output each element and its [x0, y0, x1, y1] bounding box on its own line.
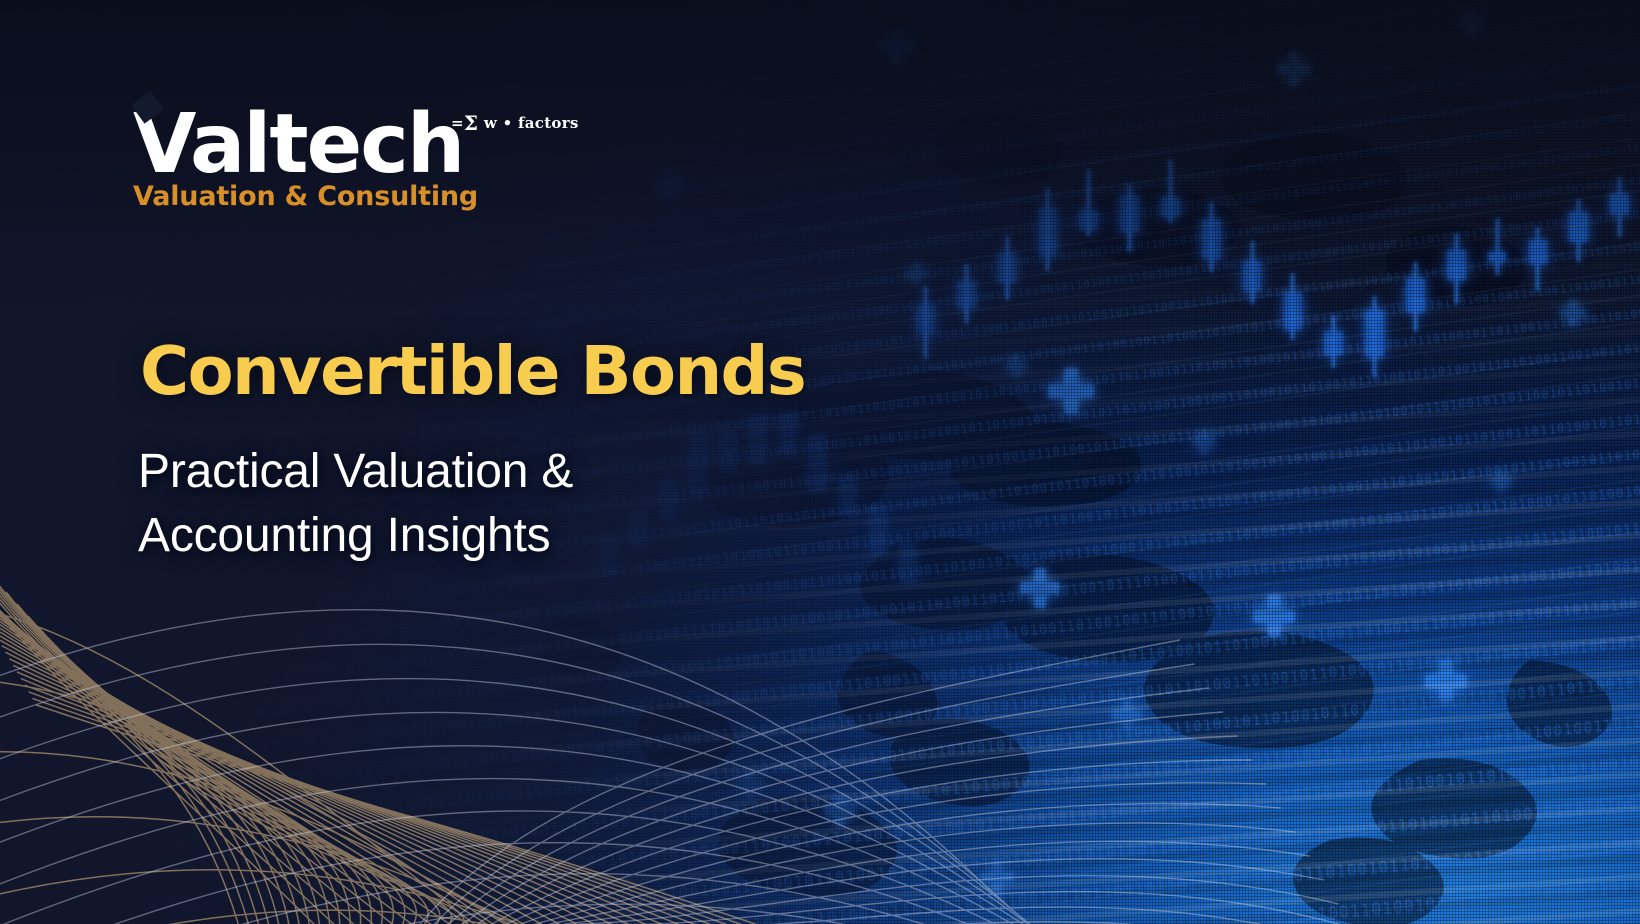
subtitle-line-2: Accounting Insights	[138, 504, 573, 568]
slide-content: Valtech =Σ w • factors Valuation & Consu…	[0, 0, 1640, 924]
brand-logo: Valtech =Σ w • factors Valuation & Consu…	[133, 106, 478, 212]
logo-formula-superscript: =Σ w • factors	[451, 114, 579, 133]
page-title: Convertible Bonds	[140, 338, 805, 405]
logo-wordmark-text: Valtech	[133, 97, 463, 192]
subtitle-line-1: Practical Valuation &	[138, 440, 573, 504]
formula-equals: =	[451, 114, 464, 132]
page-subtitle: Practical Valuation & Accounting Insight…	[138, 440, 573, 568]
logo-wordmark: Valtech =Σ w • factors	[133, 106, 463, 185]
title-slide: 0100110010011010010110100101101001011010…	[0, 0, 1640, 924]
formula-sigma-icon: Σ	[464, 111, 478, 135]
formula-terms: w • factors	[478, 114, 578, 132]
